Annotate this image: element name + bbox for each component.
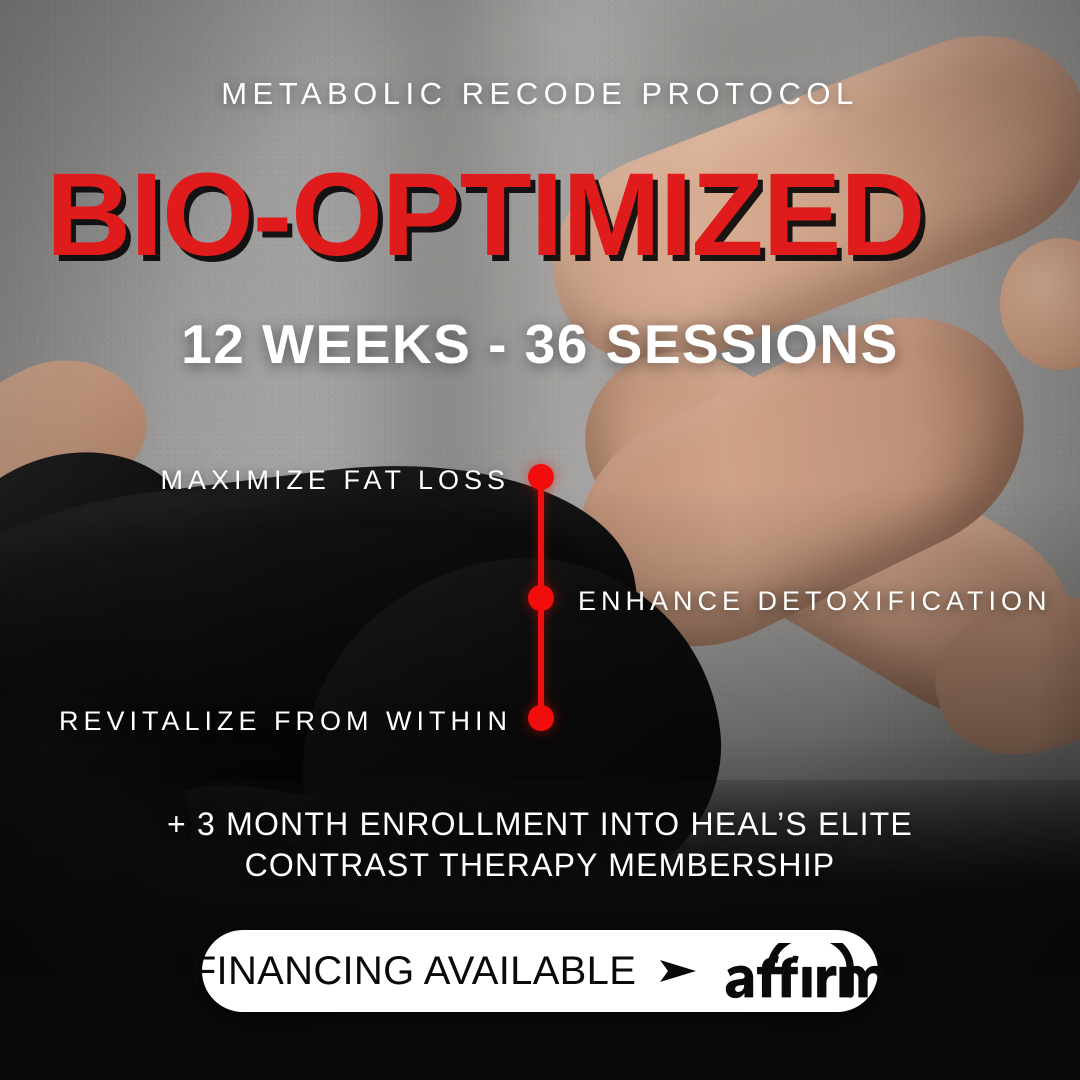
financing-label: FINANCING AVAILABLE (192, 949, 636, 994)
feature-label-maximize-fat-loss: MAXIMIZE FAT LOSS (160, 465, 510, 496)
timeline-dot-2 (528, 585, 554, 611)
ad-content: METABOLIC RECODE PROTOCOL BIO-OPTIMIZED … (0, 0, 1080, 1080)
subheadline-text: 12 WEEKS - 36 SESSIONS (0, 312, 1080, 376)
feature-label-revitalize-from-within: REVITALIZE FROM WITHIN (59, 706, 512, 737)
page-title: BIO-OPTIMIZED (46, 156, 925, 274)
bonus-offer-text: + 3 MONTH ENROLLMENT INTO HEAL’S ELITE C… (0, 804, 1080, 886)
affirm-logo (720, 943, 888, 999)
financing-available-button[interactable]: FINANCING AVAILABLE (202, 930, 878, 1012)
timeline-dot-1 (528, 464, 554, 490)
bonus-offer-line-2: CONTRAST THERAPY MEMBERSHIP (0, 845, 1080, 886)
timeline-dot-3 (528, 705, 554, 731)
feature-label-enhance-detoxification: ENHANCE DETOXIFICATION (578, 586, 1052, 617)
eyebrow-text: METABOLIC RECODE PROTOCOL (0, 76, 1080, 112)
arrow-right-icon (658, 956, 698, 986)
bonus-offer-line-1: + 3 MONTH ENROLLMENT INTO HEAL’S ELITE (0, 804, 1080, 845)
promo-ad-canvas: METABOLIC RECODE PROTOCOL BIO-OPTIMIZED … (0, 0, 1080, 1080)
